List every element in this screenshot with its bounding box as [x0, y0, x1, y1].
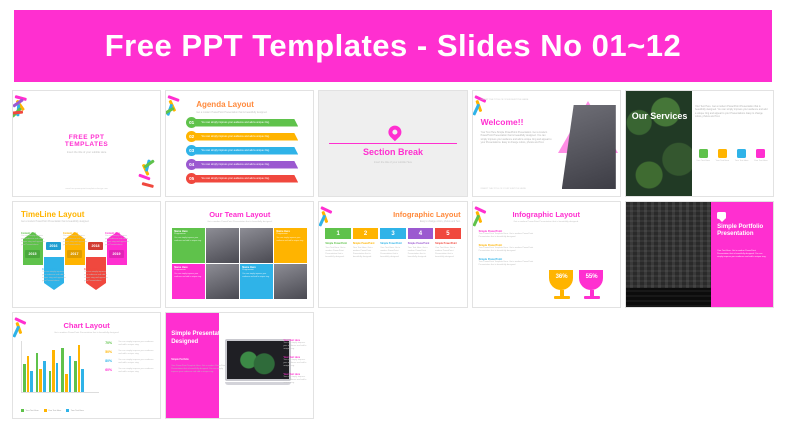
side-item-text: You can simply impress your audience and… — [283, 342, 309, 351]
city-photo — [626, 202, 711, 307]
infographic-column-heading: Simple PowerPoint — [353, 242, 378, 245]
agenda-subtitle: Get a modern PowerPoint Presentation tha… — [196, 111, 267, 114]
team-grid: Name Here Programmer You can simply impr… — [172, 228, 307, 299]
team-member-role: Programmer — [242, 269, 271, 271]
team-title: Our Team Layout — [166, 210, 313, 219]
timeline-item-text: Content Here You can simply impress your… — [105, 232, 129, 247]
chart-bar — [69, 356, 72, 392]
cover-footer: www.free-powerpoint-templates-design.com — [13, 188, 160, 190]
chart-subtitle: Get a modern PowerPoint Presentation tha… — [13, 332, 160, 334]
slide-thumbnail-cover[interactable]: FREE PPT TEMPLATES Insert the title of y… — [12, 90, 161, 197]
chart-bar — [56, 363, 59, 392]
slide-thumbnail-simple-presentation[interactable]: Simple Presentation Designed Simple Port… — [165, 312, 314, 419]
chart-bar-group — [36, 353, 46, 392]
agenda-row-text: You can simply impress your audience and… — [195, 147, 298, 155]
agenda-title: Agenda Layout — [196, 100, 254, 109]
presentation-subheading: Simple Portfolio — [171, 359, 229, 361]
chart-bar — [81, 369, 84, 392]
chart-legend: Your Text Here Your Text Here Your Text … — [21, 409, 84, 412]
side-item-text: You can simply impress your audience and… — [283, 359, 309, 368]
infographic-column: Simple PowerPoint Your Text Here. Get a … — [380, 242, 405, 259]
chart-bars — [23, 340, 99, 392]
services-body: Your Text Here. Get a modern PowerPoint … — [695, 105, 769, 119]
agenda-row: 04 You can simply impress your audience … — [186, 159, 298, 170]
agenda-row-text: You can simply impress your audience and… — [195, 133, 298, 141]
chart-stat-percent: 80% — [105, 359, 116, 363]
section-break-subtitle: Insert the title of your subtitle Here — [319, 161, 466, 164]
team-member-role: Programmer — [174, 233, 203, 235]
divider — [329, 143, 456, 144]
infographic-column: Simple PowerPoint Your Text Here. Get a … — [435, 242, 460, 259]
legend-swatch-icon — [21, 409, 24, 412]
chart-stat-text: You can simply impress your audience and… — [118, 359, 155, 365]
chart-bar — [27, 356, 30, 392]
agenda-row: 03 You can simply impress your audience … — [186, 145, 298, 156]
chart-stat-row: 60% You can simply impress your audience… — [105, 368, 155, 374]
timeline-item-body: You can simply impress your audience and… — [105, 235, 129, 247]
timeline-item-text: Content Here You can simply impress your… — [42, 268, 66, 283]
chart-stat-percent: 60% — [105, 368, 116, 372]
timeline-year: 2016 — [46, 242, 61, 250]
infographic-title: Infographic Layout — [393, 210, 461, 219]
portfolio-title: Simple Portfolio Presentation — [717, 224, 768, 238]
infographic-column-heading: Simple PowerPoint — [408, 242, 433, 245]
timeline-item-text: Content Here You can simply impress your… — [84, 268, 108, 283]
page-banner: Free PPT Templates - Slides No 01~12 — [14, 10, 772, 82]
chart-stat-text: You can simply impress your audience and… — [118, 350, 155, 356]
legend-swatch-icon — [44, 409, 47, 412]
slide-thumbnail-infographic-numbers[interactable]: Infographic Layout Easy to change colors… — [318, 201, 467, 308]
portfolio-panel: Simple Portfolio Presentation Your Text … — [711, 202, 773, 307]
slide-thumbnail-our-team[interactable]: Our Team Layout Get a modern PowerPoint … — [165, 201, 314, 308]
confetti-splash-icon — [12, 90, 51, 131]
slide-thumbnail-infographic-trophy[interactable]: Infographic Layout Get a modern PowerPoi… — [472, 201, 621, 308]
agenda-row: 05 You can simply impress your audience … — [186, 173, 298, 184]
timeline-item-body: You can simply impress your audience and… — [21, 235, 45, 247]
services-card-list: Your Text Here Your Text Here Your Text … — [695, 149, 769, 163]
infographic-trophy-item: Simple PowerPoint Your PowerPoint Templa… — [479, 230, 541, 239]
trophy-icon: 36% — [549, 270, 575, 300]
portfolio-text: Your Text Here. Get a modern PowerPoint … — [717, 250, 768, 259]
infographic-number: 1 — [325, 228, 350, 239]
square-icon — [737, 149, 746, 158]
chart-x-axis — [21, 392, 99, 393]
chart-bar — [65, 374, 68, 392]
chart-bar-group — [74, 345, 84, 392]
presentation-side-list: Your Text Here You can simply impress yo… — [283, 339, 309, 385]
services-card[interactable]: Your Text Here — [753, 149, 769, 163]
presentation-title: Simple Presentation Designed — [171, 331, 231, 346]
section-break-title: Section Break — [319, 147, 466, 157]
chart-bar — [39, 369, 42, 392]
infographic-column-heading: Simple PowerPoint — [380, 242, 405, 245]
team-member-photo — [274, 264, 307, 299]
services-title: Our Services — [632, 111, 688, 121]
services-card-label: Your Text Here — [733, 160, 749, 163]
chart-bar-group — [23, 356, 33, 392]
chart-bar — [52, 350, 55, 392]
timeline-item-body: You can simply impress your audience and… — [84, 271, 108, 283]
timeline-item-body: You can simply impress your audience and… — [42, 271, 66, 283]
services-photo — [626, 91, 692, 196]
chart-stat-row: 80% You can simply impress your audience… — [105, 359, 155, 365]
chat-bubble-icon — [717, 212, 726, 219]
square-icon — [756, 149, 765, 158]
chart-bar — [36, 353, 39, 392]
chart-bar — [43, 361, 46, 392]
team-member-text: You can simply impress your audience and… — [174, 237, 203, 242]
slide-thumbnail-section-break[interactable]: Section Break Insert the title of your s… — [318, 90, 467, 197]
infographic-column-row: Simple PowerPoint Your Text Here. Get a … — [325, 242, 460, 259]
agenda-row-text: You can simply impress your audience and… — [195, 175, 298, 183]
infographic-trophy-subtitle: Get a modern PowerPoint Presentation tha… — [473, 221, 620, 223]
infographic-column-text: Your Text Here. Get a modern PowerPoint … — [380, 247, 405, 259]
chart-bar — [61, 348, 64, 392]
infographic-trophy-list: Simple PowerPoint Your PowerPoint Templa… — [479, 230, 541, 272]
team-member-photo — [206, 228, 239, 263]
confetti-splash-icon — [124, 156, 161, 197]
trophy-value: 36% — [549, 274, 575, 280]
presentation-side-item: Your Text Here You can simply impress yo… — [283, 339, 309, 351]
timeline-year: 2015 — [25, 250, 40, 258]
chart-legend-item: Your Text Here — [21, 409, 39, 412]
infographic-column-text: Your Text Here. Get a modern PowerPoint … — [408, 247, 433, 259]
infographic-column-text: Your Text Here. Get a modern PowerPoint … — [435, 247, 460, 259]
infographic-column: Simple PowerPoint Your Text Here. Get a … — [408, 242, 433, 259]
item-text: Your PowerPoint Template Here. Get a mod… — [479, 247, 541, 253]
side-item-text: You can simply impress your audience and… — [283, 376, 309, 385]
square-icon — [718, 149, 727, 158]
laptop-base — [225, 382, 291, 385]
infographic-column-text: Your Text Here. Get a modern PowerPoint … — [353, 247, 378, 259]
timeline-item-text: Content Here You can simply impress your… — [63, 232, 87, 247]
services-card-label: Your Text Here — [753, 160, 769, 163]
infographic-trophy-title: Infographic Layout — [473, 210, 620, 219]
services-card-label: Your Text Here — [714, 160, 730, 163]
chart-bar — [49, 371, 52, 392]
chart-y-axis — [21, 341, 22, 393]
infographic-number: 2 — [353, 228, 378, 239]
timeline-subtitle: Get a modern PowerPoint Presentation tha… — [21, 221, 89, 223]
infographic-column: Simple PowerPoint Your Text Here. Get a … — [353, 242, 378, 259]
cover-text-block: FREE PPT TEMPLATES Insert the title of y… — [50, 134, 124, 154]
services-card[interactable]: Your Text Here — [695, 149, 711, 163]
chart-stat-percent: 70% — [105, 341, 116, 345]
presentation-side-item: Your Text Here You can simply impress yo… — [283, 373, 309, 385]
chart-bar — [74, 361, 77, 392]
infographic-column-heading: Simple PowerPoint — [325, 242, 350, 245]
slide-thumbnail-our-services[interactable]: Our Services Your Text Here. Get a moder… — [625, 90, 774, 197]
welcome-top-note: INSERT THE TITLE OF YOUR SUBTITLE HERE — [481, 99, 529, 102]
services-card[interactable]: Your Text Here — [733, 149, 749, 163]
slide-thumbnail-agenda[interactable]: Agenda Layout Get a modern PowerPoint Pr… — [165, 90, 314, 197]
slide-thumbnail-simple-portfolio[interactable]: Simple Portfolio Presentation Your Text … — [625, 201, 774, 308]
trophy-icon: 55% — [579, 270, 605, 300]
slide-thumbnail-welcome[interactable]: INSERT THE TITLE OF YOUR SUBTITLE HERE W… — [472, 90, 621, 197]
agenda-row: 02 You can simply impress your audience … — [186, 131, 298, 142]
chart-stat-percent: 50% — [105, 350, 116, 354]
legend-label: Your Text Here — [48, 410, 61, 412]
infographic-trophy-item: Simple PowerPoint Your PowerPoint Templa… — [479, 258, 541, 267]
square-icon — [699, 149, 708, 158]
team-member-card: Name Here Programmer You can simply impr… — [274, 228, 307, 263]
chart-bar — [23, 364, 26, 392]
chart-stat-row: 70% You can simply impress your audience… — [105, 341, 155, 347]
infographic-column-text: Your Text Here. Get a modern PowerPoint … — [325, 247, 350, 259]
welcome-title: Welcome!! — [481, 117, 524, 127]
slide-thumbnail-chart[interactable]: Chart Layout Get a modern PowerPoint Pre… — [12, 312, 161, 419]
team-member-text: You can simply impress your audience and… — [174, 273, 203, 278]
cover-title: FREE PPT TEMPLATES — [50, 134, 124, 148]
infographic-column: Simple PowerPoint Your Text Here. Get a … — [325, 242, 350, 259]
item-text: Your PowerPoint Template Here. Get a mod… — [479, 261, 541, 267]
laptop-screen — [225, 339, 291, 381]
timeline-item-text: Content Here You can simply impress your… — [21, 232, 45, 247]
slides-preview-page: Free PPT Templates - Slides No 01~12 FRE — [0, 0, 786, 445]
timeline-year: 2019 — [109, 250, 124, 258]
chart-stat-text: You can simply impress your audience and… — [118, 368, 155, 374]
chart-stats-list: 70% You can simply impress your audience… — [105, 341, 155, 377]
team-member-text: You can simply impress your audience and… — [276, 237, 305, 242]
chart-bar-group — [49, 350, 59, 392]
presentation-side-item: Your Text Here You can simply impress yo… — [283, 356, 309, 368]
team-subtitle: Get a modern PowerPoint Presentation tha… — [166, 221, 313, 223]
team-member-card: Name Here Programmer You can simply impr… — [240, 264, 273, 299]
team-member-photo — [240, 228, 273, 263]
infographic-number: 3 — [380, 228, 405, 239]
infographic-number-row: 1 2 3 4 5 — [325, 228, 460, 239]
infographic-trophy-item: Simple PowerPoint Your PowerPoint Templa… — [479, 244, 541, 253]
chart-bar-group — [61, 348, 71, 392]
agenda-row: 01 You can simply impress your audience … — [186, 117, 298, 128]
infographic-number: 4 — [408, 228, 433, 239]
legend-label: Your Text Here — [26, 410, 39, 412]
infographic-number: 5 — [435, 228, 460, 239]
trophy-value: 55% — [579, 274, 605, 280]
chart-legend-item: Your Text Here — [44, 409, 62, 412]
bar-chart — [21, 341, 99, 393]
slide-thumbnail-timeline[interactable]: TimeLine Layout Get a modern PowerPoint … — [12, 201, 161, 308]
services-card[interactable]: Your Text Here — [714, 149, 730, 163]
infographic-subtitle: Easy to change colors, photos and Text. — [420, 221, 461, 223]
agenda-row-text: You can simply impress your audience and… — [195, 161, 298, 169]
team-member-role: Programmer — [174, 269, 203, 271]
team-member-role: Programmer — [276, 233, 305, 235]
timeline-item-body: You can simply impress your audience and… — [63, 235, 87, 247]
legend-swatch-icon — [66, 409, 69, 412]
chart-title: Chart Layout — [13, 321, 160, 330]
cover-subtitle: Insert the title of your subtitle Here — [50, 151, 124, 154]
chart-legend-item: Your Text Here — [66, 409, 84, 412]
infographic-column-heading: Simple PowerPoint — [435, 242, 460, 245]
presentation-text: Your PowerPoint Template Here. Get a mod… — [171, 365, 229, 374]
team-member-photo — [206, 264, 239, 299]
team-member-card: Name Here Programmer You can simply impr… — [172, 264, 205, 299]
agenda-row-text: You can simply impress your audience and… — [195, 119, 298, 127]
slides-grid: FREE PPT TEMPLATES Insert the title of y… — [12, 90, 774, 419]
timeline-year: 2018 — [88, 242, 103, 250]
chart-stat-row: 50% You can simply impress your audience… — [105, 350, 155, 356]
chart-stat-text: You can simply impress your audience and… — [118, 341, 155, 347]
item-text: Your PowerPoint Template Here. Get a mod… — [479, 233, 541, 239]
team-member-text: You can simply impress your audience and… — [242, 273, 271, 278]
legend-label: Your Text Here — [71, 410, 84, 412]
page-title: Free PPT Templates - Slides No 01~12 — [105, 28, 682, 64]
timeline-title: TimeLine Layout — [21, 210, 84, 219]
timeline-year: 2017 — [67, 250, 82, 258]
chart-bar — [78, 345, 81, 392]
laptop-mockup — [225, 339, 291, 385]
team-member-card: Name Here Programmer You can simply impr… — [172, 228, 205, 263]
welcome-footer: INSERT THE TITLE OF YOUR SUBTITLE HERE — [481, 188, 526, 190]
chart-bar — [30, 371, 33, 392]
welcome-body: Your Text Here Simple PowerPoint Present… — [481, 131, 553, 145]
services-card-label: Your Text Here — [695, 160, 711, 163]
